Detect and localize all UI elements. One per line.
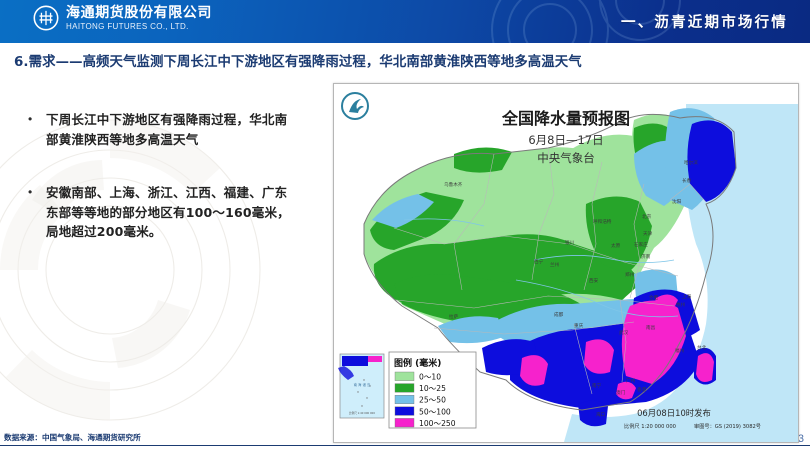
haitong-circular-logo-icon [33,5,59,31]
legend-label: 0～10 [419,373,441,382]
city-label: 西安 [589,277,599,284]
city-label: 西宁 [534,258,544,265]
legend: 图例 (毫米) 0～10 10～25 25～50 50～100 100～250 [389,352,476,428]
legend-swatch [395,407,414,416]
precipitation-forecast-map[interactable]: 全国降水量预报图 6月8日—17日 中央气象台 乌鲁木齐 呼和浩特 北京 天津 … [333,83,799,443]
map-title: 全国降水量预报图 [501,109,630,128]
city-label: 北京 [642,213,652,220]
legend-swatch [395,372,414,381]
legend-label: 25～50 [419,396,446,405]
city-label: 合肥 [649,294,659,301]
city-label: 成都 [554,311,564,318]
city-label: 武汉 [619,329,629,336]
list-item: • 安徽南部、上海、浙江、江西、福建、广东东部等等地的部分地区有100～160毫… [28,183,298,242]
inset-scale-label: 比例尺 1:40 000 000 [349,411,375,415]
inset-sea-label: 南 海 诸 岛 [354,382,371,387]
approval-number-label: 审图号：GS (2019) 3082号 [694,422,761,430]
city-label: 哈尔滨 [684,159,698,166]
city-label: 乌鲁木齐 [444,181,463,188]
city-label: 呼和浩特 [593,218,612,225]
city-label: 太原 [611,242,621,249]
header-logo: 海通期货股份有限公司 HAITONG FUTURES CO., LTD. [33,5,212,31]
bullet-dot-icon: • [28,110,34,149]
city-label: 石家庄 [634,241,648,248]
legend-title: 图例 (毫米) [394,357,441,369]
footer-divider [0,445,810,447]
legend-label: 100～250 [419,419,456,428]
city-label: 广州 [626,377,636,384]
legend-swatch [395,384,414,393]
map-scale-label: 比例尺 1:20 000 000 [624,422,676,430]
city-label: 南昌 [646,324,656,331]
section-title: 一、沥青近期市场行情 [621,11,788,32]
city-label: 南宁 [592,382,602,389]
bullet-list: • 下周长江中下游地区有强降雨过程，华北南部黄淮陕西等地多高温天气 • 安徽南部… [28,110,298,276]
page-title: 6.需求——高频天气监测下周长江中下游地区有强降雨过程，华北南部黄淮陕西等地多高… [14,50,800,70]
city-label: 海口 [596,411,606,418]
city-label: 沈阳 [672,198,682,205]
list-item: • 下周长江中下游地区有强降雨过程，华北南部黄淮陕西等地多高温天气 [28,110,298,149]
bullet-text: 下周长江中下游地区有强降雨过程，华北南部黄淮陕西等地多高温天气 [46,110,298,149]
city-label: 兰州 [550,261,560,268]
city-label: 上海 [682,293,692,300]
city-label: 澳门 [616,389,626,396]
city-label: 拉萨 [449,313,459,320]
city-label: 银川 [565,239,575,246]
legend-label: 10～25 [419,384,446,393]
city-label: 台北 [697,344,707,351]
bullet-dot-icon: • [28,183,34,242]
city-label: 济南 [641,253,651,260]
city-label: 天津 [643,230,653,237]
footer-source: 数据来源：中国气象局、海通期货研究所 [4,432,141,443]
map-date-range: 6月8日—17日 [528,133,603,147]
south-china-sea-inset: 南 海 诸 岛 比例尺 1:40 000 000 [338,354,384,418]
company-name-cn: 海通期货股份有限公司 [66,6,212,20]
legend-label: 50～100 [419,407,451,416]
city-label: 杭州 [676,301,686,308]
city-label: 郑州 [625,271,635,278]
issue-time-label: 06月08日10时发布 [637,408,711,418]
bullet-text: 安徽南部、上海、浙江、江西、福建、广东东部等等地的部分地区有100～160毫米，… [46,183,298,242]
city-label: 香港 [637,386,647,393]
company-name-en: HAITONG FUTURES CO., LTD. [66,23,212,31]
map-issuer: 中央气象台 [537,151,595,165]
map-canvas: 全国降水量预报图 6月8日—17日 中央气象台 乌鲁木齐 呼和浩特 北京 天津 … [334,84,798,442]
legend-swatch [395,418,414,427]
header-bar: 海通期货股份有限公司 HAITONG FUTURES CO., LTD. 一、沥… [0,0,810,43]
legend-swatch [395,395,414,404]
city-label: 重庆 [574,322,584,329]
city-label: 长春 [682,177,692,184]
city-label: 福州 [675,347,685,354]
